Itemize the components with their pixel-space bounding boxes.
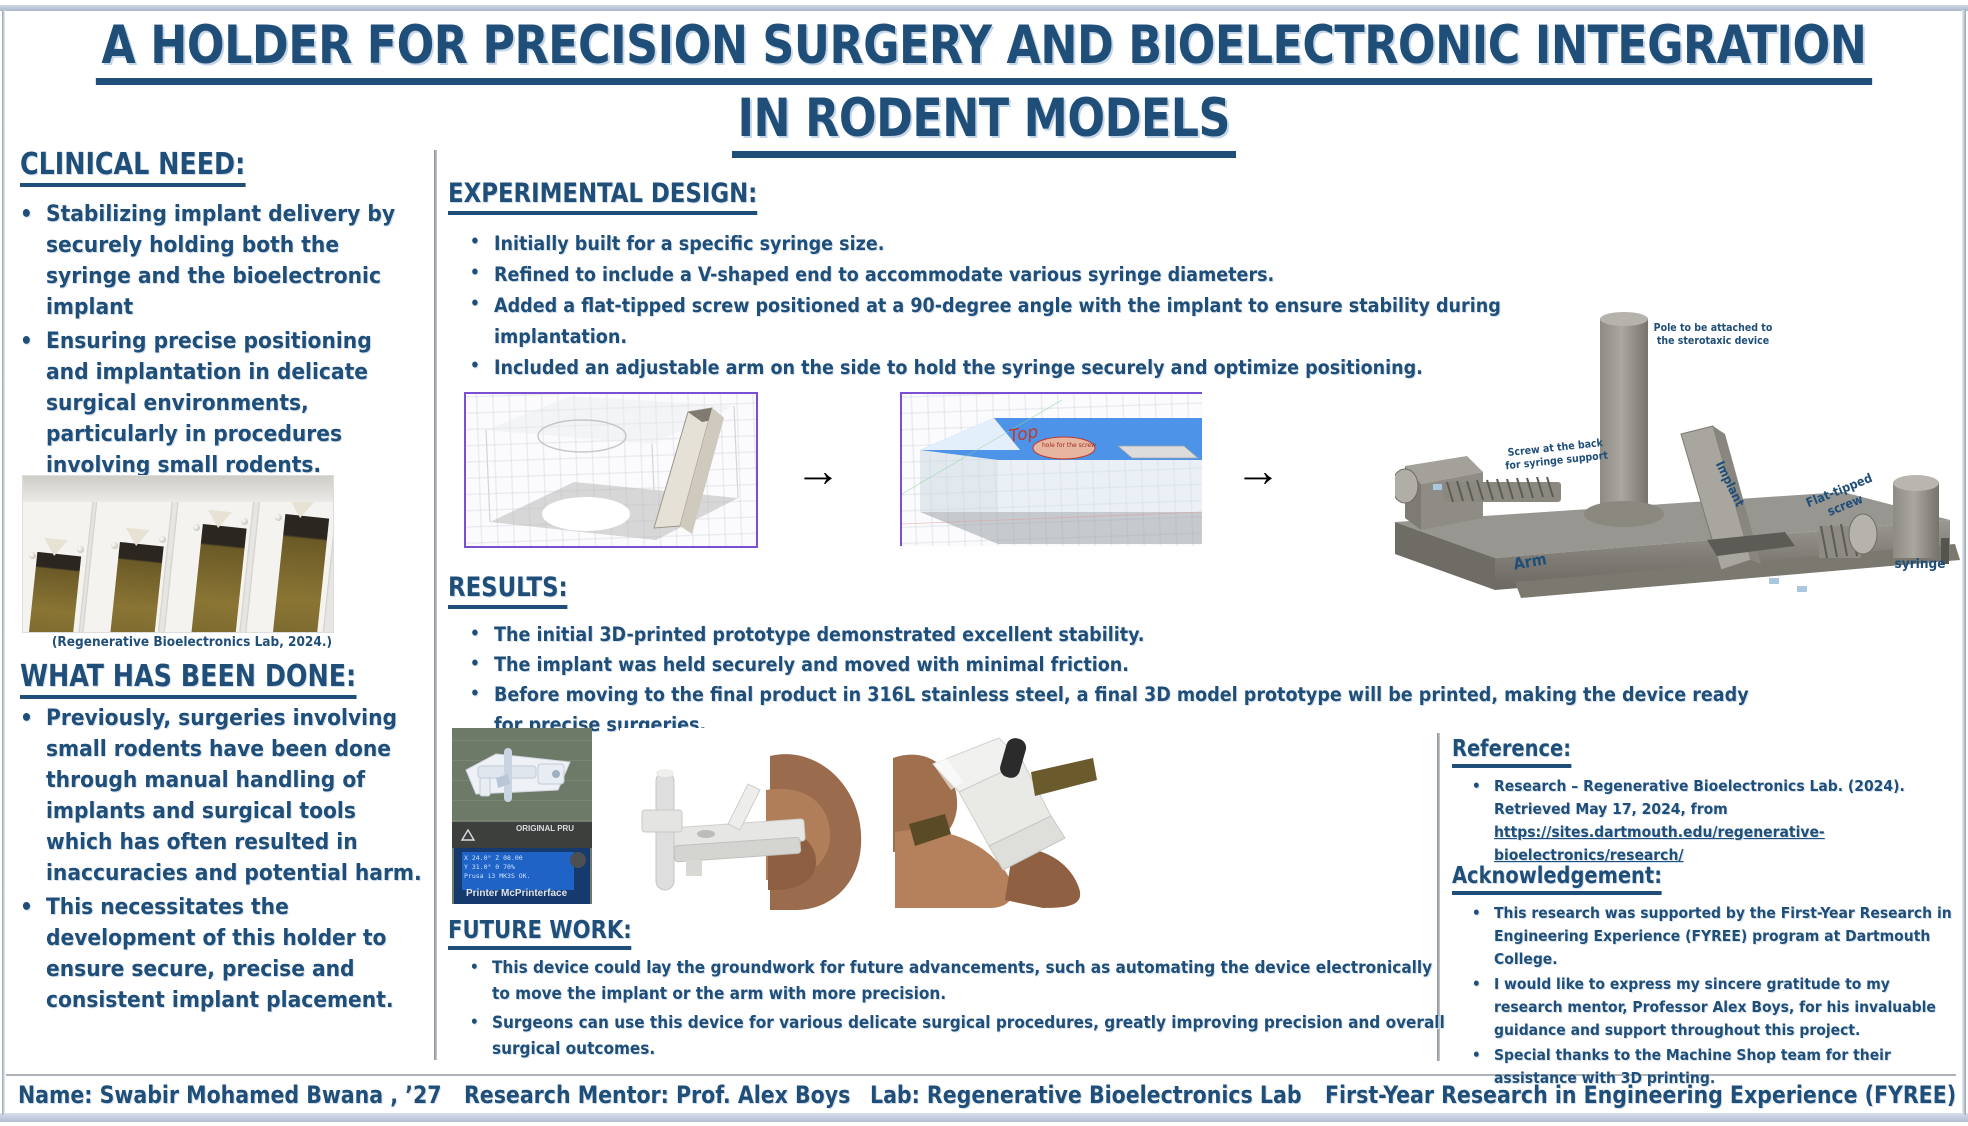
divider-left-middle xyxy=(434,150,437,1060)
heading-future-work: FUTURE WORK: xyxy=(448,915,632,950)
footer-lab: Lab: Regenerative Bioelectronics Lab xyxy=(870,1081,1302,1109)
heading-experimental-design: EXPERIMENTAL DESIGN: xyxy=(448,178,757,215)
reference-text: Research – Regenerative Bioelectronics L… xyxy=(1494,777,1905,818)
photo-caption: (Regenerative Bioelectronics Lab, 2024.) xyxy=(22,634,332,650)
list-item: I would like to express my sincere grati… xyxy=(1472,973,1952,1042)
title-line-1: A HOLDER FOR PRECISION SURGERY AND BIOEL… xyxy=(96,16,1872,85)
list-item: Surgeons can use this device for various… xyxy=(470,1010,1450,1062)
arrow-icon-1: → xyxy=(795,447,841,493)
poster-title: A HOLDER FOR PRECISION SURGERY AND BIOEL… xyxy=(0,16,1968,158)
printer-lcd-screen: X 24.0° Z 08.00 Y 31.0° 0 70% Prusa i3 M… xyxy=(462,852,574,890)
heading-results: RESULTS: xyxy=(448,572,568,609)
lcd-line-3: Prusa i3 MK3S OK. xyxy=(464,872,572,881)
list-item: Refined to include a V-shaped end to acc… xyxy=(470,259,1590,290)
heading-clinical-need: CLINICAL NEED: xyxy=(20,148,245,187)
frame-left-edge xyxy=(2,10,5,1115)
list-clinical-need: Stabilizing implant delivery by securely… xyxy=(20,199,420,481)
annotation-syringe: syringe xyxy=(1885,556,1955,573)
cad-annotation-hole: hole for the screw xyxy=(1042,442,1096,449)
list-item: Research – Regenerative Bioelectronics L… xyxy=(1472,775,1952,867)
cad-figure-final-device: Pole to be attached to the sterotaxic de… xyxy=(1395,306,1968,606)
list-results: The initial 3D-printed prototype demonst… xyxy=(470,620,1770,740)
list-item: The implant was held securely and moved … xyxy=(470,650,1770,680)
arrow-icon-2: → xyxy=(1235,447,1281,493)
reference-link[interactable]: https://sites.dartmouth.edu/regenerative… xyxy=(1494,823,1825,864)
footer-mentor: Research Mentor: Prof. Alex Boys xyxy=(464,1081,850,1109)
heading-acknowledgement: Acknowledgement: xyxy=(1452,862,1662,895)
frame-bottom-bar xyxy=(0,1113,1968,1122)
photo-prototype-in-hand-1 xyxy=(620,728,875,910)
photo-implant-array xyxy=(22,475,334,633)
cad-figure-initial-model xyxy=(464,392,758,548)
device-render-drawing xyxy=(1395,306,1968,606)
column-left: CLINICAL NEED: Stabilizing implant deliv… xyxy=(20,148,420,484)
list-future-work: This device could lay the groundwork for… xyxy=(470,955,1450,1065)
list-item: Stabilizing implant delivery by securely… xyxy=(20,199,420,323)
poster-footer: Name: Swabir Mohamed Bwana , ’27 Researc… xyxy=(6,1078,1956,1112)
list-item: Initially built for a specific syringe s… xyxy=(470,228,1590,259)
poster-canvas: A HOLDER FOR PRECISION SURGERY AND BIOEL… xyxy=(0,0,1968,1126)
list-item: This research was supported by the First… xyxy=(1472,902,1952,971)
lcd-line-1: X 24.0° Z 08.00 xyxy=(464,854,572,863)
list-acknowledgement: This research was supported by the First… xyxy=(1472,902,1952,1092)
cad-figure-refined-model: Top hole for the screw xyxy=(900,392,1202,546)
printer-name-label: Printer McPrinterface xyxy=(466,888,567,899)
annotation-pole: Pole to be attached to the sterotaxic de… xyxy=(1653,322,1773,348)
heading-reference: Reference: xyxy=(1452,735,1571,768)
lcd-line-2: Y 31.0° 0 70% xyxy=(464,863,572,872)
footer-program: First-Year Research in Engineering Exper… xyxy=(1325,1081,1956,1109)
list-reference: Research – Regenerative Bioelectronics L… xyxy=(1472,775,1952,867)
list-item: The initial 3D-printed prototype demonst… xyxy=(470,620,1770,650)
list-item: Previously, surgeries involving small ro… xyxy=(20,703,425,889)
list-what-has-been-done: Previously, surgeries involving small ro… xyxy=(20,703,425,1019)
title-line-2: IN RODENT MODELS xyxy=(732,89,1236,158)
frame-top-bar xyxy=(0,5,1968,11)
list-item: Ensuring precise positioning and implant… xyxy=(20,326,420,481)
footer-name: Name: Swabir Mohamed Bwana , ’27 xyxy=(18,1081,441,1109)
heading-what-has-been-done: WHAT HAS BEEN DONE: xyxy=(20,660,356,699)
cad-model-2-drawing: Top hole for the screw xyxy=(902,394,1202,546)
photo-prototype-in-hand-2 xyxy=(893,728,1098,908)
cad-model-1-drawing xyxy=(466,394,756,546)
list-item: This necessitates the development of thi… xyxy=(20,892,425,1016)
photo-3d-printer: ORIGINAL PRU X 24.0° Z 08.00 Y 31.0° 0 7… xyxy=(452,728,592,904)
list-item: This device could lay the groundwork for… xyxy=(470,955,1450,1007)
